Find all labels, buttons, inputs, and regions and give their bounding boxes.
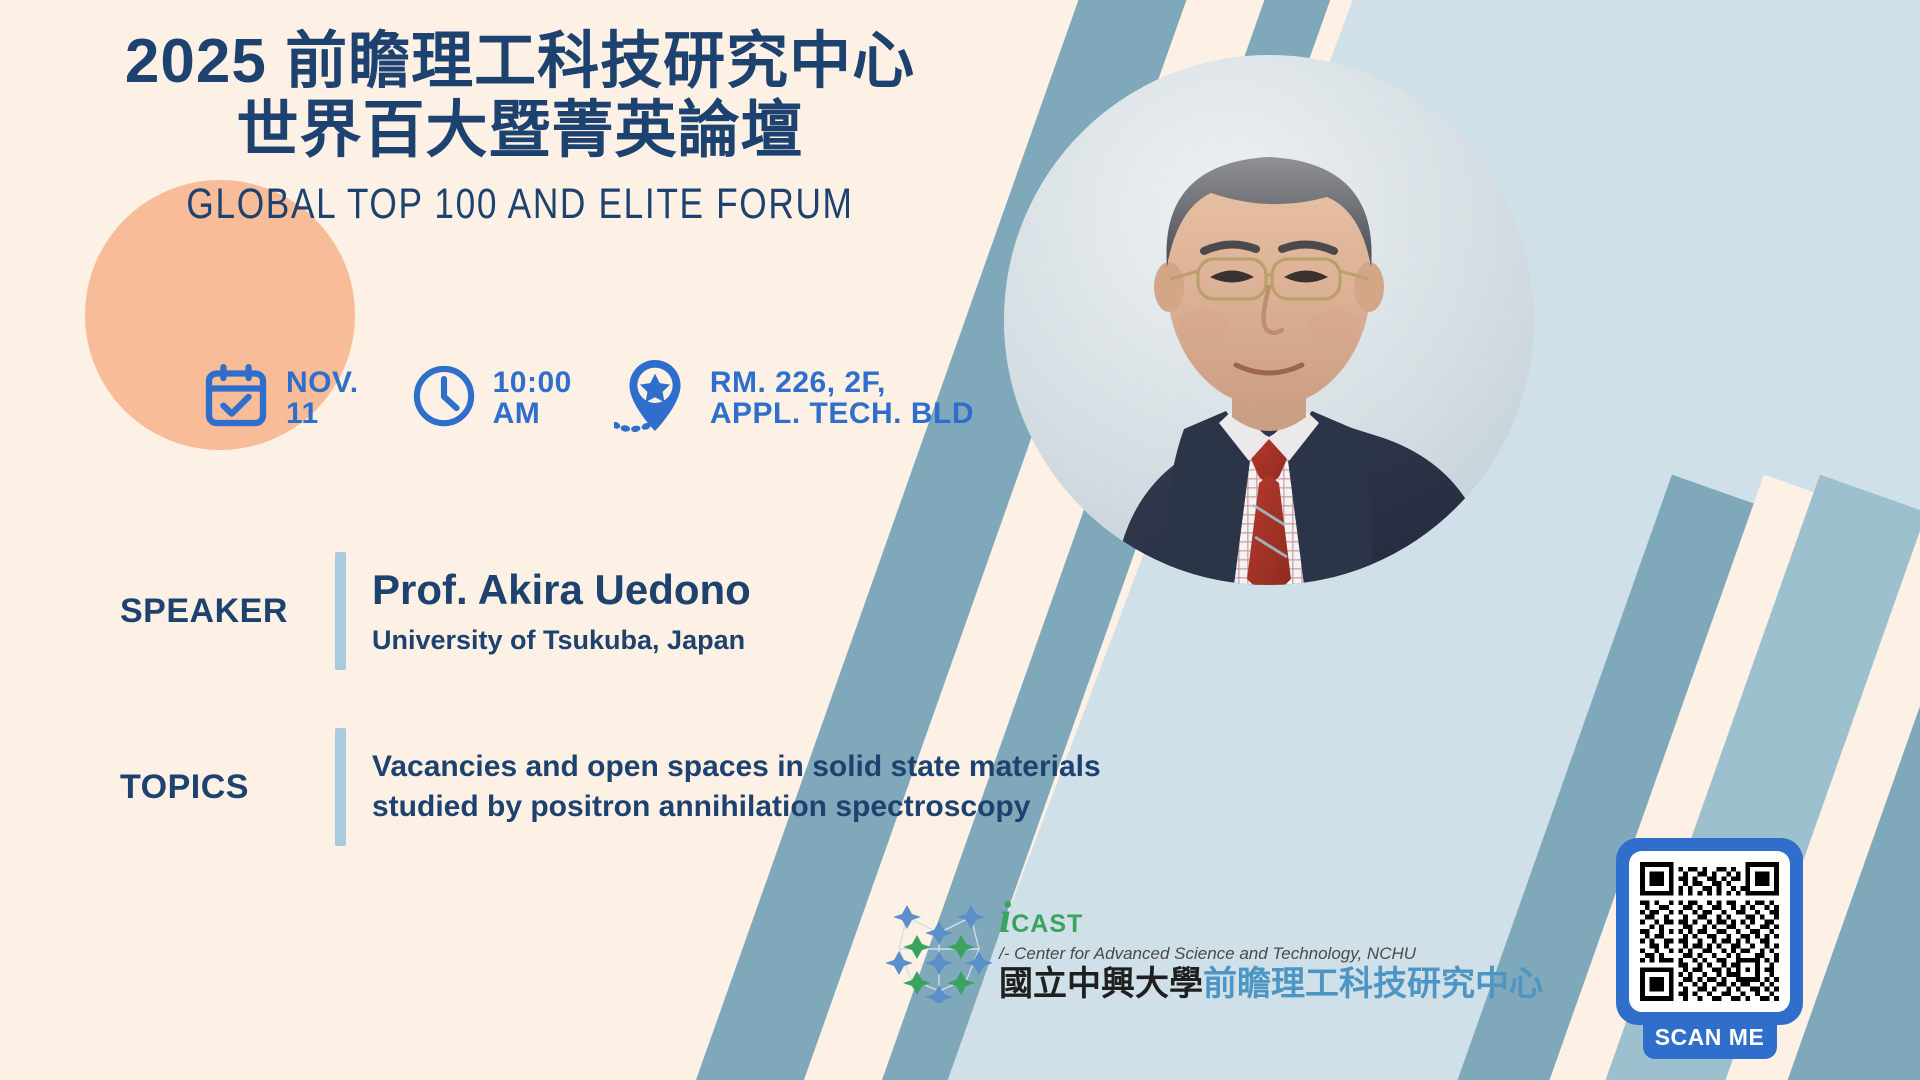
event-time-line2: AM: [493, 397, 541, 430]
event-date-line1: NOV.: [286, 366, 359, 399]
poster-title-block: 2025 前瞻理工科技研究中心 世界百大暨菁英論壇 GLOBAL TOP 100…: [0, 30, 1040, 229]
event-location-line2: APPL. TECH. BLD: [710, 397, 974, 430]
event-date-item: NOV. 11: [200, 360, 359, 437]
speaker-section: SPEAKER Prof. Akira Uedono University of…: [120, 552, 751, 670]
qr-code-block[interactable]: SCAN ME: [1616, 838, 1803, 1059]
speaker-divider-bar: [335, 552, 346, 670]
calendar-icon: [200, 360, 272, 437]
topics-divider-bar: [335, 728, 346, 846]
title-subtitle-english: GLOBAL TOP 100 AND ELITE FORUM: [94, 180, 947, 229]
title-line-chinese-2: 世界百大暨菁英論壇: [0, 99, 1040, 162]
topics-body: Vacancies and open spaces in solid state…: [346, 728, 1101, 846]
icast-logo-text: i CAST /- Center for Advanced Science an…: [999, 896, 1543, 1003]
icast-letters-cast: CAST: [1011, 912, 1083, 937]
icast-logo: i CAST /- Center for Advanced Science an…: [885, 895, 1543, 1003]
speaker-portrait: [1004, 55, 1534, 585]
icast-chinese-center: 前瞻理工科技研究中心: [1203, 965, 1543, 1003]
icast-chinese-university: 國立中興大學: [999, 965, 1203, 1003]
scan-me-label: SCAN ME: [1643, 1019, 1777, 1059]
icast-chinese-name: 國立中興大學前瞻理工科技研究中心: [999, 966, 1543, 1003]
event-time-text: 10:00 AM: [493, 368, 572, 429]
event-date-text: NOV. 11: [286, 368, 359, 429]
icast-molecule-icon: [885, 895, 993, 1003]
event-location-text: RM. 226, 2F, APPL. TECH. BLD: [710, 368, 974, 429]
event-time-line1: 10:00: [493, 366, 572, 399]
event-info-row: NOV. 11 10:00 AM: [200, 355, 974, 442]
icast-wordmark: i CAST: [999, 896, 1543, 940]
topics-line-2: studied by positron annihilation spectro…: [372, 787, 1101, 828]
topics-section: TOPICS Vacancies and open spaces in soli…: [120, 728, 1101, 846]
topics-line-1: Vacancies and open spaces in solid state…: [372, 747, 1101, 788]
speaker-affiliation: University of Tsukuba, Japan: [372, 625, 751, 656]
speaker-label: SPEAKER: [120, 552, 335, 670]
qr-frame[interactable]: [1616, 838, 1803, 1025]
event-date-line2: 11: [286, 397, 319, 430]
icast-english-name: /- Center for Advanced Science and Techn…: [999, 944, 1543, 964]
title-line-chinese-1: 2025 前瞻理工科技研究中心: [0, 30, 1040, 93]
event-time-item: 10:00 AM: [409, 361, 572, 436]
location-pin-icon: [614, 355, 696, 442]
qr-code-icon[interactable]: [1629, 851, 1790, 1012]
topics-label: TOPICS: [120, 728, 335, 846]
event-location-line1: RM. 226, 2F,: [710, 366, 886, 399]
event-location-item: RM. 226, 2F, APPL. TECH. BLD: [614, 355, 974, 442]
event-poster: 2025 前瞻理工科技研究中心 世界百大暨菁英論壇 GLOBAL TOP 100…: [0, 0, 1920, 1080]
clock-icon: [409, 361, 479, 436]
speaker-body: Prof. Akira Uedono University of Tsukuba…: [346, 552, 751, 670]
icast-letter-i: i: [999, 896, 1011, 940]
speaker-name: Prof. Akira Uedono: [372, 566, 751, 614]
